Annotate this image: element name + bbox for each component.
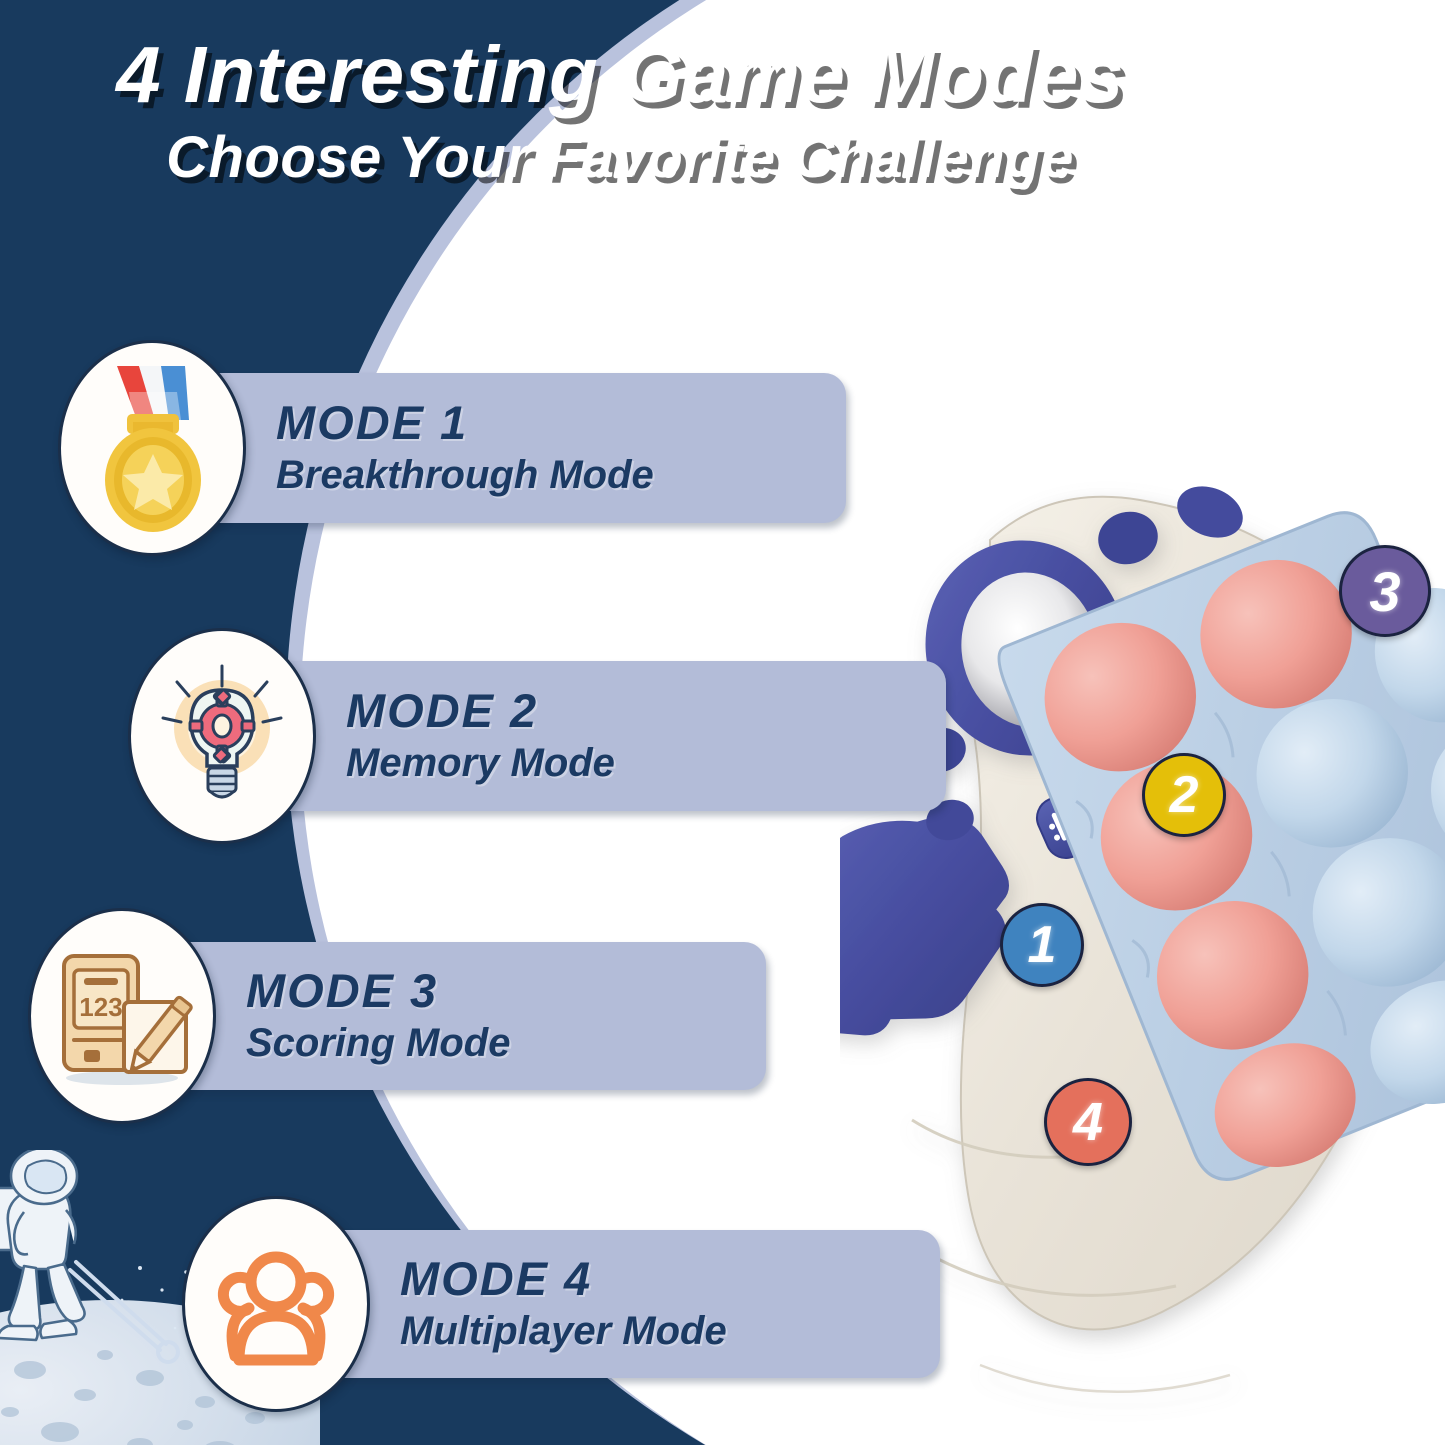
mode-4-name: Multiplayer Mode [400,1310,900,1352]
page-subtitle: Choose Your Favorite Challenge [0,128,1240,187]
scoreboard-digits: 123 [79,992,122,1022]
lightbulb-gear-icon [128,628,316,844]
mode-1-number-label: MODE 1 [276,398,806,447]
mode-1-name: Breakthrough Mode [276,454,806,496]
badge-mode-1: 1 [1000,903,1084,987]
scoreboard-pencil-icon: 123 [28,908,216,1124]
mode-2-number-label: MODE 2 [346,686,906,735]
mode-3-name: Scoring Mode [246,1022,726,1064]
header: 4 Interesting Game Modes Choose Your Fav… [0,34,1240,187]
group-users-icon [182,1196,370,1412]
badge-mode-4: 4 [1044,1078,1132,1166]
mode-row-4[interactable]: MODE 4 Multiplayer Mode [182,1196,940,1412]
mode-pill-2[interactable]: MODE 2 Memory Mode [206,661,946,811]
mode-row-2[interactable]: MODE 2 Memory Mode [128,628,946,844]
mode-row-3[interactable]: 123 MODE 3 Scoring Mode [28,908,766,1124]
mode-row-1[interactable]: MODE 1 Breakthrough Mode [58,340,846,556]
mode-4-number-label: MODE 4 [400,1254,900,1303]
mode-3-number-label: MODE 3 [246,966,726,1015]
infographic-canvas: 1 2 3 4 4 Interesting Game Modes Choose … [0,0,1445,1445]
mode-2-name: Memory Mode [346,742,906,784]
page-title: 4 Interesting Game Modes [0,34,1240,116]
badge-mode-2: 2 [1142,753,1226,837]
badge-mode-3: 3 [1339,545,1431,637]
gold-medal-icon [58,340,246,556]
